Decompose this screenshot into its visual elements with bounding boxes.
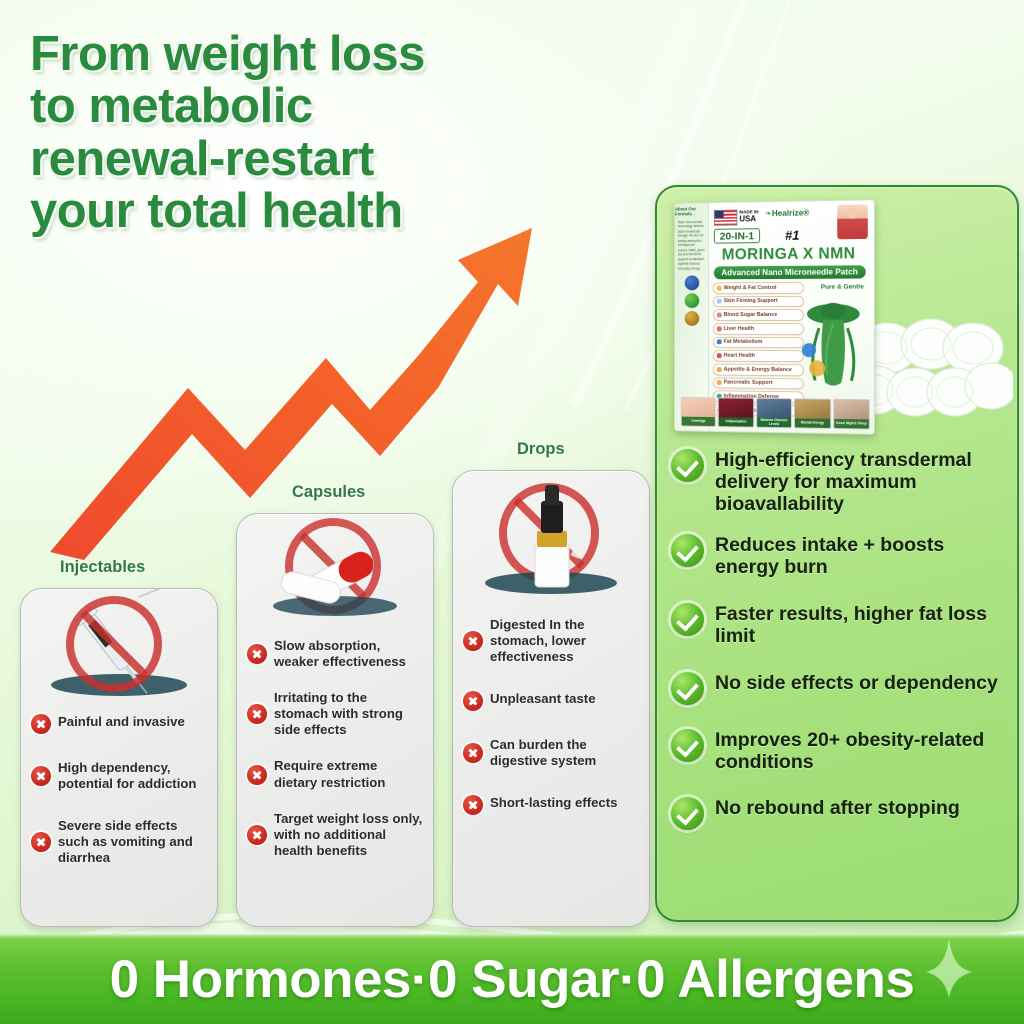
pure-gentle-label: Pure & Gentle — [821, 284, 864, 291]
leaf-icon: ❧ — [765, 209, 772, 218]
eco-seal-icon — [684, 294, 699, 309]
benefit-text: No rebound after stopping — [715, 797, 960, 820]
category-label-injectables: Injectables — [60, 558, 145, 577]
green-check-icon — [671, 534, 704, 567]
benefits-list: High-efficiency transdermal delivery for… — [671, 449, 1005, 830]
headline-line-2: to metabolic — [30, 80, 570, 132]
red-x-icon — [31, 714, 51, 734]
banner-text: 0 Hormones·0 Sugar·0 Allergens — [0, 934, 1024, 1024]
bullet-text: Can burden the digestive system — [490, 737, 640, 769]
bullet-item: Can burden the digestive system — [463, 737, 640, 769]
green-check-icon — [671, 797, 704, 830]
benefit-pill: Skin Firming Support — [713, 296, 804, 308]
benefit-text: No side effects or dependency — [715, 672, 998, 695]
fda-seal-icon — [684, 276, 699, 291]
benefit-pill: Fat Metabolism — [713, 336, 804, 348]
benefit-item: Reduces intake + boosts energy burn — [671, 534, 1005, 579]
benefit-text: Reduces intake + boosts energy burn — [715, 534, 1005, 579]
benefit-item: High-efficiency transdermal delivery for… — [671, 449, 1005, 515]
country-label: USA — [739, 215, 758, 223]
bullet-text: Require extreme dietary restriction — [274, 758, 424, 790]
red-x-icon — [247, 644, 267, 664]
no-capsules-icon — [237, 514, 433, 632]
comparison-card-injectables: Painful and invasive High dependency, po… — [20, 588, 218, 927]
bullet-text: Severe side effects such as vomiting and… — [58, 818, 208, 866]
benefit-text: Improves 20+ obesity-related conditions — [715, 729, 1005, 774]
green-check-icon — [671, 449, 704, 482]
bullet-item: Irritating to the stomach with strong si… — [247, 690, 424, 738]
bullet-text: Painful and invasive — [58, 714, 185, 730]
benefit-text: High-efficiency transdermal delivery for… — [715, 449, 1005, 515]
red-x-icon — [247, 765, 267, 785]
red-x-icon — [247, 704, 267, 724]
doctor-photo — [837, 204, 868, 239]
bullet-item: Short-lasting effects — [463, 795, 640, 815]
benefit-pill: Blood Sugar Balance — [713, 309, 804, 321]
product-box: About Our Formula Nano microneedle techn… — [674, 199, 875, 435]
benefit-item: No side effects or dependency — [671, 672, 1005, 705]
product-title: MORINGA X NMN — [714, 245, 864, 264]
bullet-item: Unpleasant taste — [463, 691, 640, 711]
brand-logo: ❧Healrize® — [765, 207, 809, 218]
product-benefits-panel: About Our Formula Nano microneedle techn… — [655, 185, 1019, 922]
comparison-card-capsules: Slow absorption, weaker effectiveness Ir… — [236, 513, 434, 927]
bullet-text: High dependency, potential for addiction — [58, 760, 208, 792]
green-check-icon — [671, 729, 704, 762]
benefit-pill: Liver Health — [713, 323, 804, 335]
red-x-icon — [31, 766, 51, 786]
headline-line-1: From weight loss — [30, 28, 570, 80]
bullet-item: Target weight loss only, with no additio… — [247, 811, 424, 859]
made-in-usa-badge: MADE IN USA — [714, 208, 765, 226]
red-x-icon — [31, 832, 51, 852]
category-label-drops: Drops — [517, 440, 565, 459]
bottom-banner: 0 Hormones·0 Sugar·0 Allergens — [0, 934, 1024, 1024]
photo-thumb: Mental Energy — [794, 398, 831, 429]
red-x-icon — [463, 795, 483, 815]
bullet-item: Digested In the stomach, lower effective… — [463, 617, 640, 665]
us-flag-icon — [714, 209, 738, 225]
gmp-seal-icon — [684, 311, 699, 326]
bullet-list: Slow absorption, weaker effectiveness Ir… — [247, 638, 424, 872]
product-photo-strip: Cravings Inflammation Balance Glucose Le… — [681, 397, 870, 430]
rank-badge: #1 — [785, 228, 799, 243]
benefit-pill: Heart Health — [713, 350, 804, 362]
benefit-pill: Weight & Fat Control — [713, 282, 804, 294]
photo-thumb: Inflammation — [718, 397, 754, 427]
photo-thumb: Balance Glucose Levels — [756, 398, 792, 429]
infographic-root: From weight loss to metabolic renewal-re… — [0, 0, 1024, 1024]
product-subtitle: Advanced Nano Microneedle Patch — [714, 265, 866, 279]
no-syringe-icon — [21, 589, 217, 707]
side-panel-heading: About Our Formula — [675, 206, 708, 216]
bullet-item: Severe side effects such as vomiting and… — [31, 818, 208, 866]
benefit-pill: Pancreatic Support — [713, 377, 804, 389]
bullet-text: Unpleasant taste — [490, 691, 596, 707]
bullet-text: Irritating to the stomach with strong si… — [274, 690, 424, 738]
bullet-text: Short-lasting effects — [490, 795, 618, 811]
bullet-text: Target weight loss only, with no additio… — [274, 811, 424, 859]
bullet-item: Slow absorption, weaker effectiveness — [247, 638, 424, 670]
bullet-item: Require extreme dietary restriction — [247, 758, 424, 790]
benefit-pill: Appetite & Energy Balance — [713, 364, 804, 376]
photo-thumb: Cravings — [681, 397, 716, 427]
comparison-card-drops: Digested In the stomach, lower effective… — [452, 470, 650, 927]
bullet-list: Painful and invasive High dependency, po… — [31, 714, 208, 879]
photo-thumb: Good Nights Sleep — [833, 399, 870, 430]
benefit-item: Improves 20+ obesity-related conditions — [671, 729, 1005, 774]
bullet-text: Digested In the stomach, lower effective… — [490, 617, 640, 665]
bullet-item: Painful and invasive — [31, 714, 208, 734]
sparkle-icon — [926, 938, 972, 998]
product-shot: About Our Formula Nano microneedle techn… — [663, 192, 1013, 442]
twenty-in-one-badge: 20-IN-1 — [714, 228, 760, 243]
red-x-icon — [463, 631, 483, 651]
green-check-icon — [671, 603, 704, 636]
benefit-text: Faster results, higher fat loss limit — [715, 603, 1005, 648]
bullet-item: High dependency, potential for addiction — [31, 760, 208, 792]
red-x-icon — [247, 825, 267, 845]
benefit-item: Faster results, higher fat loss limit — [671, 603, 1005, 648]
category-label-capsules: Capsules — [292, 483, 365, 502]
bullet-list: Digested In the stomach, lower effective… — [463, 617, 640, 828]
no-dropper-bottle-icon — [453, 471, 649, 611]
side-panel-text: Nano microneedle technology delivers act… — [675, 217, 708, 275]
microneedle-patch-discs-icon — [853, 312, 1013, 427]
red-x-icon — [463, 691, 483, 711]
benefit-item: No rebound after stopping — [671, 797, 1005, 830]
moringa-woman-illustration — [793, 294, 872, 391]
bullet-text: Slow absorption, weaker effectiveness — [274, 638, 424, 670]
green-check-icon — [671, 672, 704, 705]
red-x-icon — [463, 743, 483, 763]
